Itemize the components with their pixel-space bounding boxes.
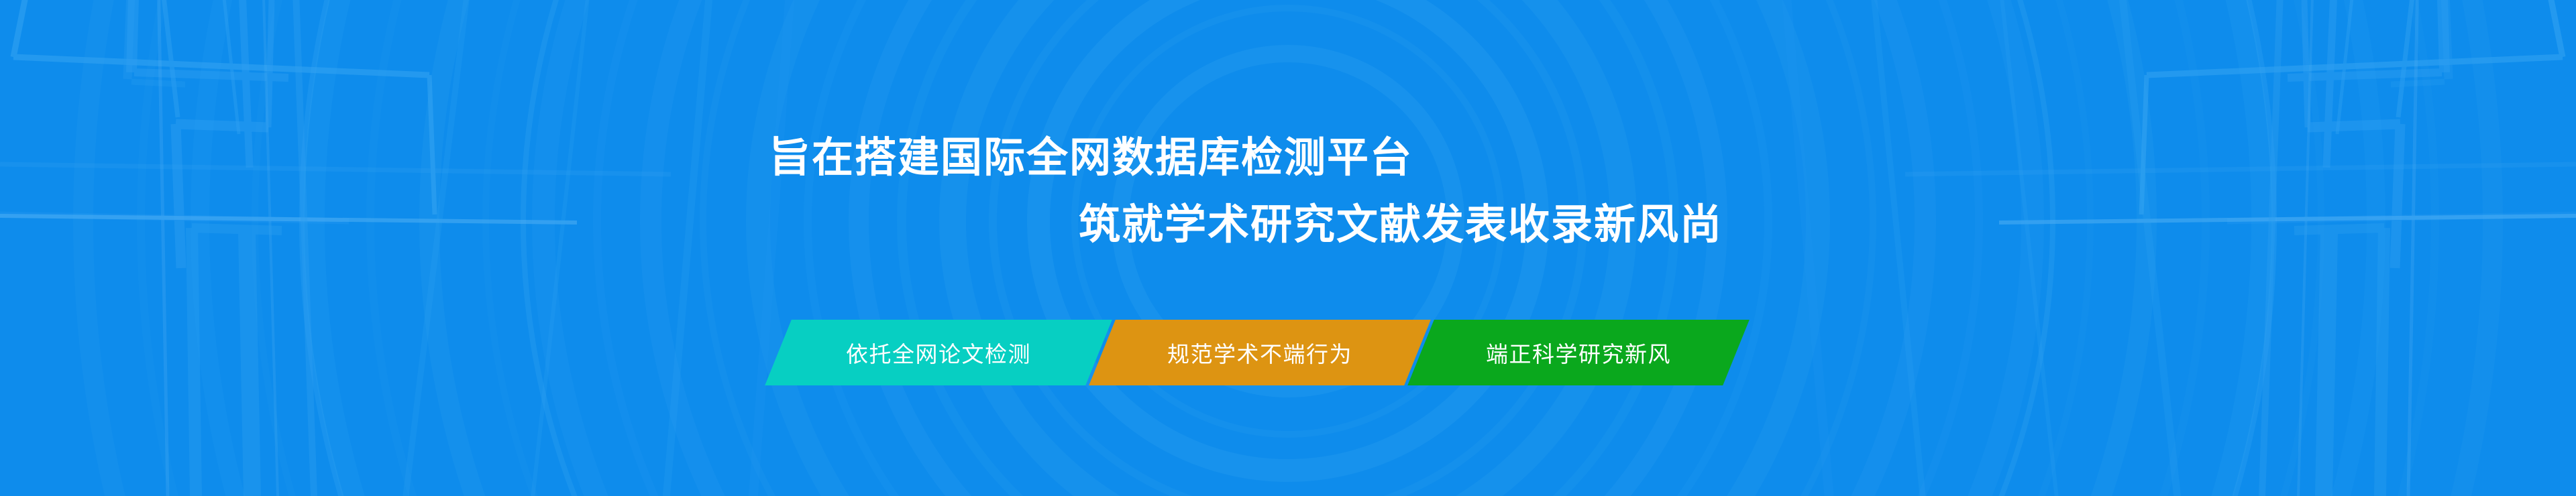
- ribbon-segment-1-label: 依托全网论文检测: [846, 336, 1031, 369]
- headline: 旨在搭建国际全网数据库检测平台 筑就学术研究文献发表收录新风尚: [0, 125, 2576, 259]
- headline-line-1: 旨在搭建国际全网数据库检测平台: [0, 125, 2576, 192]
- ribbon-segment-3[interactable]: 端正科学研究新风: [1407, 320, 1750, 385]
- ribbon-segment-1[interactable]: 依托全网论文检测: [765, 320, 1112, 385]
- ribbon-segment-2-label: 规范学术不端行为: [1167, 336, 1352, 369]
- ribbon-segment-3-label: 端正科学研究新风: [1486, 336, 1671, 369]
- headline-line-2: 筑就学术研究文献发表收录新风尚: [0, 192, 2576, 259]
- feature-ribbon: 依托全网论文检测 规范学术不端行为 端正科学研究新风: [778, 320, 1805, 385]
- hero-banner: 旨在搭建国际全网数据库检测平台 筑就学术研究文献发表收录新风尚 依托全网论文检测…: [0, 0, 2576, 496]
- ribbon-segment-2[interactable]: 规范学术不端行为: [1089, 320, 1431, 385]
